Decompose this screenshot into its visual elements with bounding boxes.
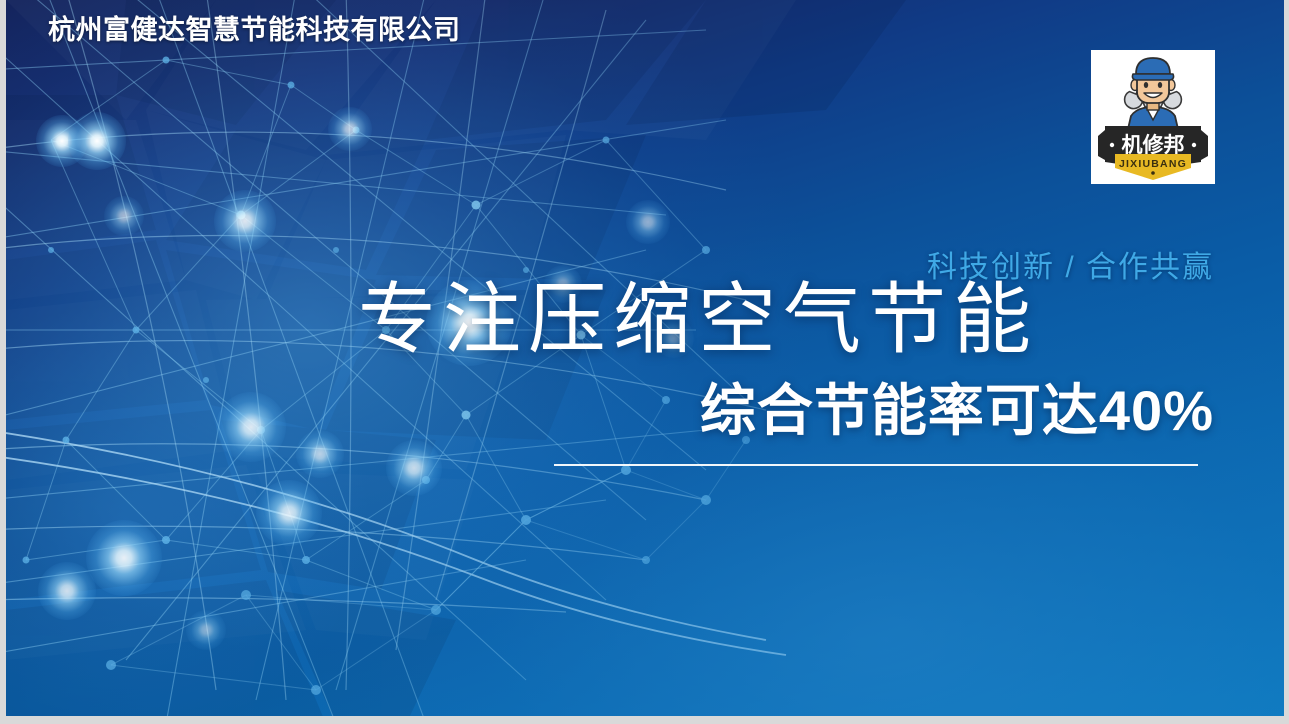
glow-node <box>256 480 322 546</box>
glow-node <box>186 610 226 650</box>
company-name: 杭州富健达智慧节能科技有限公司 <box>48 8 461 47</box>
glow-node <box>216 392 286 462</box>
glow-node <box>104 196 144 236</box>
logo-brand-en: JIXIUBANG <box>1119 158 1187 170</box>
glow-node <box>296 430 344 478</box>
logo-dot-left <box>1110 143 1114 147</box>
glow-node <box>626 200 670 244</box>
glow-node <box>214 190 276 252</box>
glow-node <box>38 562 96 620</box>
logo-svg: 机修邦 JIXIUBANG <box>1091 50 1215 184</box>
logo-cap-brim <box>1132 74 1173 80</box>
glow-node <box>68 112 126 170</box>
logo-brand-cn: 机修邦 <box>1122 133 1185 157</box>
logo-cap <box>1136 58 1170 74</box>
glow-node <box>86 520 162 596</box>
company-logo[interactable]: 机修邦 JIXIUBANG <box>1091 50 1215 184</box>
headline-divider <box>554 464 1198 466</box>
logo-ribbon-dot <box>1151 171 1155 175</box>
glow-node <box>328 107 372 151</box>
headline-secondary: 综合节能率可达40% <box>700 383 1214 439</box>
glow-node <box>386 440 442 496</box>
headline-primary: 专注压缩空气节能 <box>358 281 1038 359</box>
presentation-slide: 杭州富健达智慧节能科技有限公司 <box>0 0 1289 724</box>
glow-node <box>36 115 88 167</box>
logo-dot-right <box>1192 143 1196 147</box>
